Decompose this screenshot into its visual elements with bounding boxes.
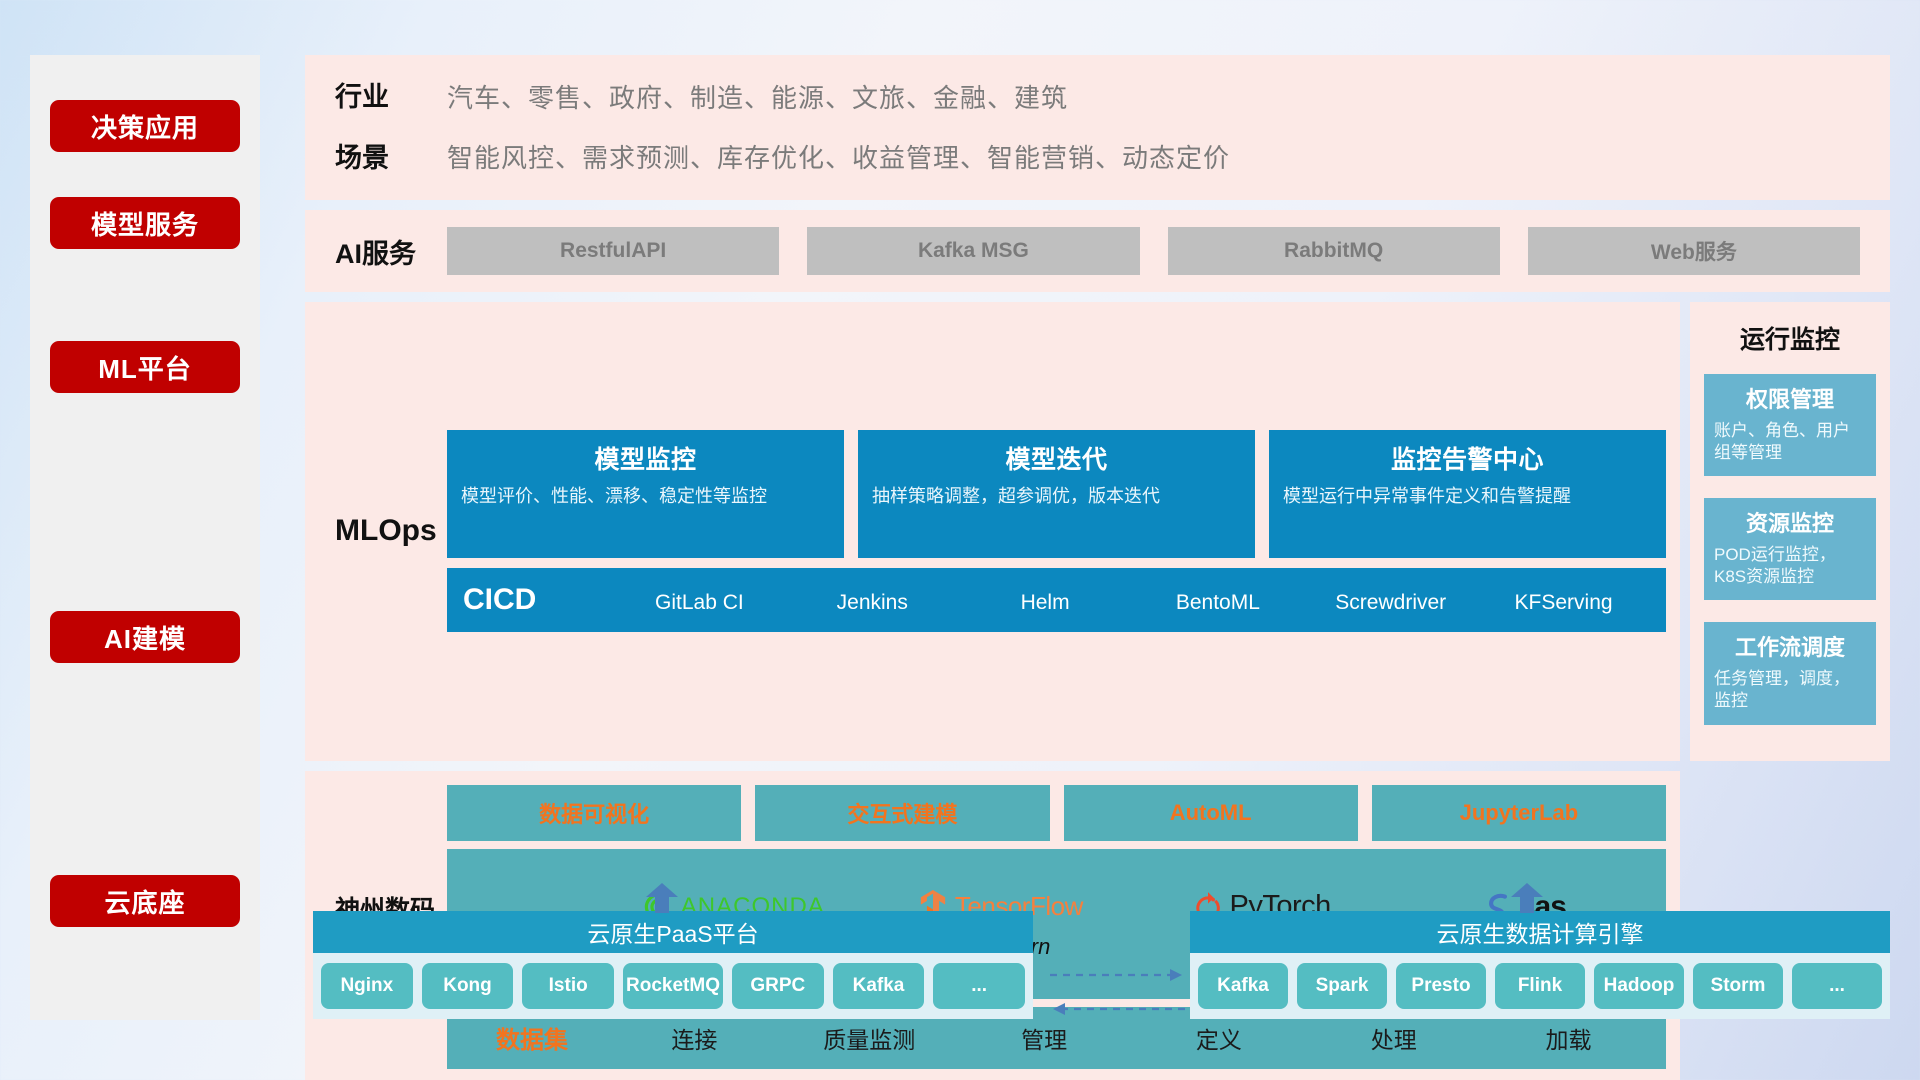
monitor-card-title: 资源监控 <box>1714 506 1866 538</box>
rail-chip-decision-application[interactable]: 决策应用 <box>50 100 240 152</box>
mlops-card-alert-center[interactable]: 监控告警中心 模型运行中异常事件定义和告警提醒 <box>1269 430 1666 558</box>
cloud-foundation-section: 云原生PaaS平台 Nginx Kong Istio RocketMQ GRPC… <box>305 885 1890 1045</box>
monitor-card-permission[interactable]: 权限管理 账户、角色、用户组等管理 <box>1704 374 1876 476</box>
rail-chip-ai-modeling[interactable]: AI建模 <box>50 611 240 663</box>
left-rail: 决策应用 模型服务 ML平台 AI建模 云底座 <box>30 55 260 1020</box>
cloud-data-engine-block: 云原生数据计算引擎 Kafka Spark Presto Flink Hadoo… <box>1190 911 1890 1019</box>
monitor-card-title: 权限管理 <box>1714 382 1866 414</box>
monitor-card-desc: 任务管理，调度，监控 <box>1714 668 1866 712</box>
cicd-item-screwdriver[interactable]: Screwdriver <box>1304 591 1477 615</box>
mlops-band: MLOps 模型监控 模型评价、性能、漂移、稳定性等监控 模型迭代 抽样策略调整… <box>305 302 1680 761</box>
ai-service-band: AI服务 RestfulAPI Kafka MSG RabbitMQ Web服务 <box>305 210 1890 292</box>
ai-service-items: RestfulAPI Kafka MSG RabbitMQ Web服务 <box>447 227 1860 275</box>
engine-pill-presto[interactable]: Presto <box>1396 963 1486 1009</box>
tool-chip-data-visualization[interactable]: 数据可视化 <box>447 785 741 841</box>
cicd-item-jenkins[interactable]: Jenkins <box>786 591 959 615</box>
scenario-label: 场景 <box>335 145 447 172</box>
tool-chip-jupyterlab[interactable]: JupyterLab <box>1372 785 1666 841</box>
paas-pill-istio[interactable]: Istio <box>522 963 614 1009</box>
cloud-paas-block: 云原生PaaS平台 Nginx Kong Istio RocketMQ GRPC… <box>313 911 1033 1019</box>
rail-chip-label: 决策应用 <box>91 108 199 145</box>
mllab-tool-row: 数据可视化 交互式建模 AutoML JupyterLab <box>447 785 1666 841</box>
engine-pill-spark[interactable]: Spark <box>1297 963 1387 1009</box>
cicd-bar: CICD GitLab CI Jenkins Helm BentoML Scre… <box>447 568 1666 632</box>
cloud-data-engine-title: 云原生数据计算引擎 <box>1190 911 1890 953</box>
monitor-card-workflow[interactable]: 工作流调度 任务管理，调度，监控 <box>1704 622 1876 724</box>
rail-chip-label: AI建模 <box>104 619 186 656</box>
paas-up-arrow-icon <box>645 883 679 913</box>
cicd-item-bentoml[interactable]: BentoML <box>1131 591 1304 615</box>
bidirectional-dashed-connector <box>1050 963 1185 1023</box>
engine-pill-storm[interactable]: Storm <box>1693 963 1783 1009</box>
industry-scenario-labels: 行业 场景 <box>335 84 447 172</box>
industry-list: 汽车、零售、政府、制造、能源、文旅、金融、建筑 <box>447 85 1890 111</box>
tool-chip-automl[interactable]: AutoML <box>1064 785 1358 841</box>
diagram-canvas: 决策应用 模型服务 ML平台 AI建模 云底座 行业 场景 汽车、零售、政府、制… <box>0 0 1920 1080</box>
ai-service-chip-restfulapi[interactable]: RestfulAPI <box>447 227 779 275</box>
mlops-card-title: 模型监控 <box>461 440 830 476</box>
runtime-monitor-panel: 运行监控 权限管理 账户、角色、用户组等管理 资源监控 POD运行监控，K8S资… <box>1690 302 1890 761</box>
rail-chip-label: 模型服务 <box>91 205 199 242</box>
mlops-card-desc: 抽样策略调整，超参调优，版本迭代 <box>872 484 1241 508</box>
mlops-card-desc: 模型运行中异常事件定义和告警提醒 <box>1283 484 1652 508</box>
tool-chip-interactive-modeling[interactable]: 交互式建模 <box>755 785 1049 841</box>
paas-pill-nginx[interactable]: Nginx <box>321 963 413 1009</box>
rail-chip-label: ML平台 <box>98 349 192 386</box>
mlops-card-title: 监控告警中心 <box>1283 440 1652 476</box>
cicd-item-helm[interactable]: Helm <box>959 591 1132 615</box>
scenario-list: 智能风控、需求预测、库存优化、收益管理、智能营销、动态定价 <box>447 145 1890 171</box>
runtime-monitor-title: 运行监控 <box>1704 320 1876 356</box>
industry-label: 行业 <box>335 84 447 111</box>
monitor-card-desc: POD运行监控，K8S资源监控 <box>1714 544 1866 588</box>
cicd-item-gitlab-ci[interactable]: GitLab CI <box>613 591 786 615</box>
mlops-card-model-iteration[interactable]: 模型迭代 抽样策略调整，超参调优，版本迭代 <box>858 430 1255 558</box>
mlops-label: MLOps <box>335 514 447 548</box>
monitor-card-resource[interactable]: 资源监控 POD运行监控，K8S资源监控 <box>1704 498 1876 600</box>
engine-pill-kafka[interactable]: Kafka <box>1198 963 1288 1009</box>
paas-pill-rocketmq[interactable]: RocketMQ <box>623 963 723 1009</box>
ai-service-chip-web-service[interactable]: Web服务 <box>1528 227 1860 275</box>
paas-pill-grpc[interactable]: GRPC <box>732 963 824 1009</box>
rail-chip-cloud-foundation[interactable]: 云底座 <box>50 875 240 927</box>
rail-chip-model-service[interactable]: 模型服务 <box>50 197 240 249</box>
cloud-paas-pills: Nginx Kong Istio RocketMQ GRPC Kafka ... <box>313 953 1033 1019</box>
ai-service-label: AI服务 <box>335 232 447 271</box>
cloud-data-engine-pills: Kafka Spark Presto Flink Hadoop Storm ..… <box>1190 953 1890 1019</box>
mlops-card-title: 模型迭代 <box>872 440 1241 476</box>
paas-pill-kafka[interactable]: Kafka <box>833 963 925 1009</box>
cicd-item-kfserving[interactable]: KFServing <box>1477 591 1650 615</box>
paas-pill-kong[interactable]: Kong <box>422 963 514 1009</box>
engine-pill-flink[interactable]: Flink <box>1495 963 1585 1009</box>
mlops-content: 模型监控 模型评价、性能、漂移、稳定性等监控 模型迭代 抽样策略调整，超参调优，… <box>447 430 1666 632</box>
ai-service-chip-kafka-msg[interactable]: Kafka MSG <box>807 227 1139 275</box>
monitor-card-desc: 账户、角色、用户组等管理 <box>1714 420 1866 464</box>
industry-scenario-band: 行业 场景 汽车、零售、政府、制造、能源、文旅、金融、建筑 智能风控、需求预测、… <box>305 55 1890 200</box>
engine-pill-more[interactable]: ... <box>1792 963 1882 1009</box>
industry-scenario-values: 汽车、零售、政府、制造、能源、文旅、金融、建筑 智能风控、需求预测、库存优化、收… <box>447 85 1890 171</box>
monitor-card-title: 工作流调度 <box>1714 630 1866 662</box>
paas-pill-more[interactable]: ... <box>933 963 1025 1009</box>
mlops-cards: 模型监控 模型评价、性能、漂移、稳定性等监控 模型迭代 抽样策略调整，超参调优，… <box>447 430 1666 558</box>
ai-service-chip-rabbitmq[interactable]: RabbitMQ <box>1168 227 1500 275</box>
data-engine-up-arrow-icon <box>1510 883 1544 913</box>
cicd-title: CICD <box>463 583 613 617</box>
rail-chip-label: 云底座 <box>104 883 185 920</box>
engine-pill-hadoop[interactable]: Hadoop <box>1594 963 1684 1009</box>
rail-chip-ml-platform[interactable]: ML平台 <box>50 341 240 393</box>
mlops-card-desc: 模型评价、性能、漂移、稳定性等监控 <box>461 484 830 508</box>
cloud-paas-title: 云原生PaaS平台 <box>313 911 1033 953</box>
mlops-row: MLOps 模型监控 模型评价、性能、漂移、稳定性等监控 模型迭代 抽样策略调整… <box>305 302 1890 761</box>
mlops-card-model-monitoring[interactable]: 模型监控 模型评价、性能、漂移、稳定性等监控 <box>447 430 844 558</box>
cicd-items: GitLab CI Jenkins Helm BentoML Screwdriv… <box>613 585 1650 615</box>
